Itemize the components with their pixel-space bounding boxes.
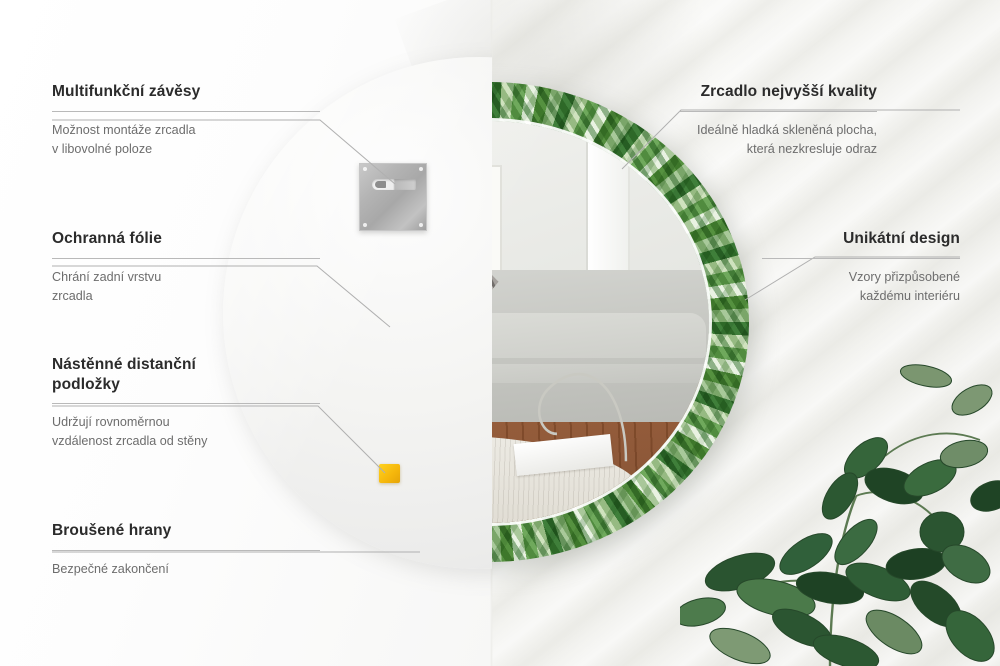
callout-description: Chrání zadní vrstvu zrcadla bbox=[52, 268, 320, 306]
callout-title: Broušené hrany bbox=[52, 521, 320, 541]
hanger-bracket bbox=[359, 163, 427, 231]
callout-rule bbox=[52, 403, 320, 404]
callout-rule bbox=[52, 550, 320, 551]
callout-title-line: podložky bbox=[52, 375, 320, 395]
callout-rule bbox=[762, 258, 960, 259]
hanger-slot-icon bbox=[372, 179, 416, 190]
callout-multifunkcni-zavesy: Multifunkční závěsy Možnost montáže zrca… bbox=[52, 82, 320, 159]
callout-description-line: v libovolné poloze bbox=[52, 140, 320, 159]
callout-zrcadlo-nejvyssi-kvality: Zrcadlo nejvyšší kvality Ideálně hladká … bbox=[679, 82, 877, 159]
callout-title: Zrcadlo nejvyšší kvality bbox=[679, 82, 877, 102]
callout-nastenne-distancni-podlozky: Nástěnné distanční podložky Udržují rovn… bbox=[52, 355, 320, 451]
callout-description-line: zrcadla bbox=[52, 287, 320, 306]
callout-description-line: Bezpečné zakončení bbox=[52, 560, 320, 579]
callout-description: Vzory přizpůsobené každému interiéru bbox=[762, 268, 960, 306]
callout-description-line: Ideálně hladká skleněná plocha, bbox=[679, 121, 877, 140]
callout-description: Bezpečné zakončení bbox=[52, 560, 320, 579]
foreground-plant bbox=[680, 336, 1000, 666]
callout-title-line: Nástěnné distanční bbox=[52, 355, 320, 375]
callout-description-line: Udržují rovnoměrnou bbox=[52, 413, 320, 432]
callout-description-line: Chrání zadní vrstvu bbox=[52, 268, 320, 287]
callout-rule bbox=[679, 111, 877, 112]
callout-description-line: vzdálenost zrcadla od stěny bbox=[52, 432, 320, 451]
callout-title: Nástěnné distanční podložky bbox=[52, 355, 320, 394]
callout-unikatni-design: Unikátní design Vzory přizpůsobené každé… bbox=[762, 229, 960, 306]
wall-distance-pad bbox=[379, 464, 400, 483]
product-infographic: Multifunkční závěsy Možnost montáže zrca… bbox=[0, 0, 1000, 666]
hanger-screw-icon bbox=[419, 223, 423, 227]
callout-rule bbox=[52, 258, 320, 259]
callout-description: Ideálně hladká skleněná plocha, která ne… bbox=[679, 121, 877, 159]
callout-description-line: která nezkresluje odraz bbox=[679, 140, 877, 159]
hanger-screw-icon bbox=[363, 167, 367, 171]
callout-description-line: Vzory přizpůsobené bbox=[762, 268, 960, 287]
callout-description: Udržují rovnoměrnou vzdálenost zrcadla o… bbox=[52, 413, 320, 451]
callout-description: Možnost montáže zrcadla v libovolné polo… bbox=[52, 121, 320, 159]
callout-description-line: každému interiéru bbox=[762, 287, 960, 306]
callout-rule bbox=[52, 111, 320, 112]
callout-ochranna-folie: Ochranná fólie Chrání zadní vrstvu zrcad… bbox=[52, 229, 320, 306]
mirror-glass bbox=[492, 121, 709, 523]
callout-title: Multifunkční závěsy bbox=[52, 82, 320, 102]
callout-title: Unikátní design bbox=[762, 229, 960, 249]
callout-brousene-hrany: Broušené hrany Bezpečné zakončení bbox=[52, 521, 320, 579]
callout-description-line: Možnost montáže zrcadla bbox=[52, 121, 320, 140]
hanger-screw-icon bbox=[419, 167, 423, 171]
callout-title: Ochranná fólie bbox=[52, 229, 320, 249]
hanger-screw-icon bbox=[363, 223, 367, 227]
